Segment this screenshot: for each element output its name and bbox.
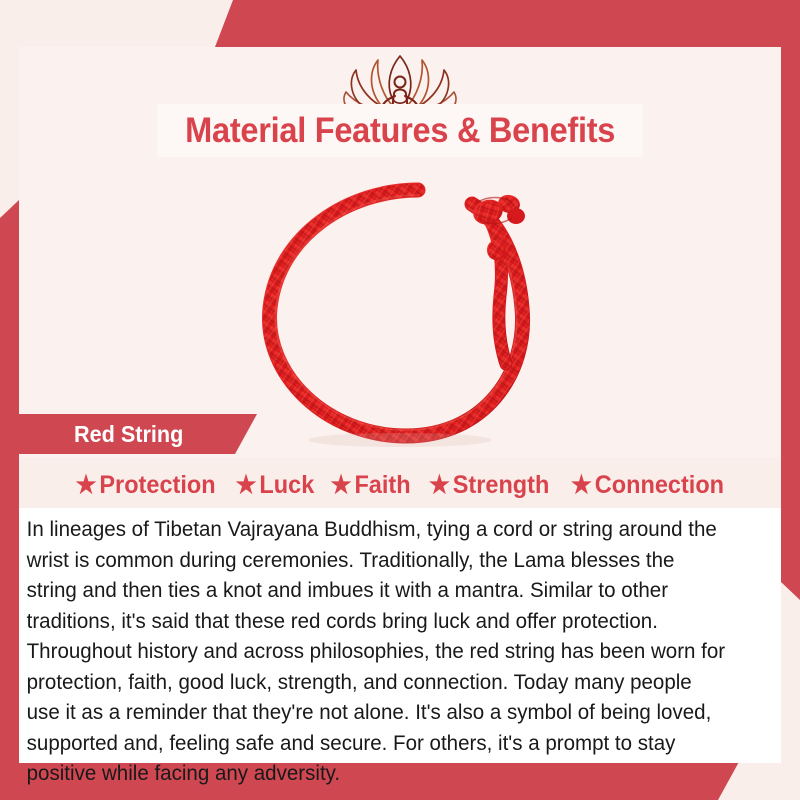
benefit-label: Faith xyxy=(355,471,411,500)
benefit-item-connection: ★ Connection xyxy=(571,471,724,500)
star-icon: ★ xyxy=(235,473,256,498)
page-title: Material Features & Benefits xyxy=(185,111,615,151)
benefit-item-faith: ★ Faith xyxy=(331,471,411,500)
benefit-item-protection: ★ Protection xyxy=(76,471,216,500)
star-icon: ★ xyxy=(571,473,592,498)
benefit-label: Protection xyxy=(100,471,216,500)
benefit-label: Connection xyxy=(594,471,723,500)
star-icon: ★ xyxy=(76,473,97,498)
star-icon: ★ xyxy=(331,473,352,498)
description-text: In lineages of Tibetan Vajrayana Buddhis… xyxy=(19,508,747,789)
product-image xyxy=(250,168,570,458)
benefit-label: Strength xyxy=(453,471,550,500)
red-string-label-text: Red String xyxy=(74,421,183,448)
benefit-item-strength: ★ Strength xyxy=(429,471,550,500)
description-panel: In lineages of Tibetan Vajrayana Buddhis… xyxy=(19,508,781,763)
star-icon: ★ xyxy=(429,473,450,498)
benefit-label: Luck xyxy=(259,471,314,500)
infographic-page: BUDDHA STONES Material Features & Benefi… xyxy=(0,0,800,800)
benefit-item-luck: ★ Luck xyxy=(235,471,314,500)
decor-top-red-band xyxy=(215,0,800,47)
title-plate: Material Features & Benefits xyxy=(157,104,643,157)
red-string-label-ribbon: Red String xyxy=(19,414,257,454)
red-braided-string-bracelet-svg xyxy=(250,168,570,458)
benefits-row: ★ Protection ★ Luck ★ Faith ★ Strength ★… xyxy=(19,463,781,508)
decor-left-red-bar xyxy=(0,200,19,778)
